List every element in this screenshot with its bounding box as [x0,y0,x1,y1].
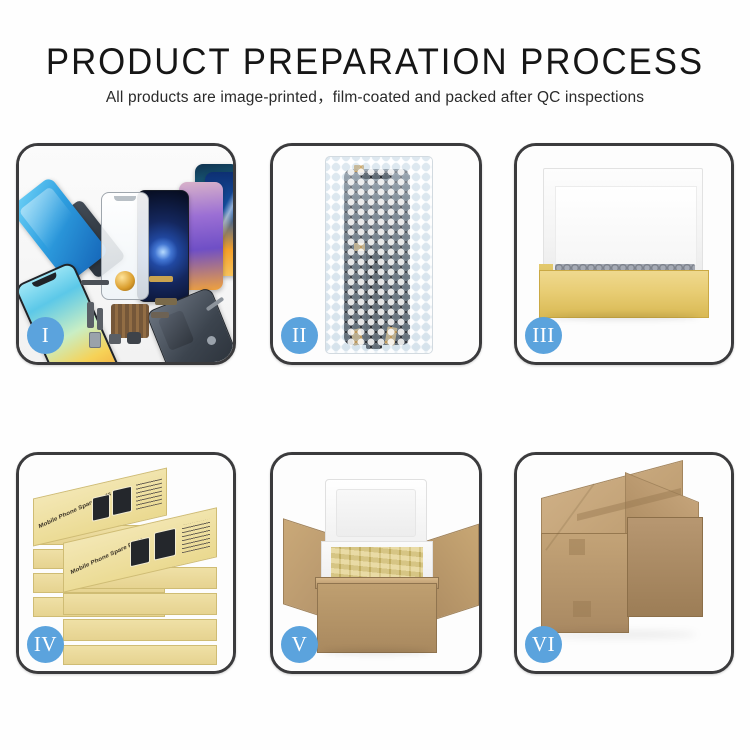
process-panel-2[interactable]: II [270,143,482,365]
box-shadow [547,314,699,320]
step-badge-5: V [281,626,318,663]
carton-ground-shadow [547,631,697,638]
box-label-phone-1a [92,494,110,522]
carton-shadow [323,649,431,655]
step-badge-6: VI [525,626,562,663]
part-flex-cable-1 [87,302,94,328]
part-connector-2 [151,312,169,318]
part-connector-1 [155,298,177,305]
step-badge-1: I [27,317,64,354]
part-button-set [127,332,141,344]
carton-tab-upper [569,539,585,555]
process-panel-4[interactable]: Mobile Phone Spare Parts Mobile Phone Sp… [16,452,236,674]
process-grid: I II [0,0,750,750]
part-camera-module [89,332,101,348]
process-panel-6[interactable]: VI [514,452,734,674]
process-panel-3[interactable]: III [514,143,734,365]
page-root: PRODUCT PREPARATION PROCESS All products… [0,0,750,750]
part-speaker [109,334,121,344]
part-flex-gold [149,276,173,282]
stack-box-r3 [63,619,217,641]
step-badge-2: II [281,317,318,354]
box-label-phone-1b [112,486,132,517]
box-tray-kraft [539,270,709,318]
stack-box-r2 [63,593,217,615]
process-panel-1[interactable]: I [16,143,236,365]
carton-tab-lower [573,601,591,617]
bubble-wrap-bag [325,156,433,354]
carton-left-face [541,533,629,633]
step-badge-4: IV [27,626,64,663]
part-strip-1 [81,280,109,285]
box-label-spec-1 [136,478,162,510]
part-flex-cable-2 [97,308,103,330]
carton-front-face [317,583,437,653]
box-label-phone-2a [130,537,150,568]
step-badge-3: III [525,317,562,354]
carton-right-face [627,517,703,617]
foam-cooler-lid [325,479,427,547]
stack-box-r4 [63,645,217,665]
part-vibration-motor [115,271,135,291]
box-label-phone-2b [154,528,176,561]
box-lid-inner-face [555,186,697,266]
part-screw [207,336,216,345]
box-label-spec-2 [182,519,210,553]
bubble-texture-back [326,157,432,353]
process-panel-5[interactable]: V [270,452,482,674]
